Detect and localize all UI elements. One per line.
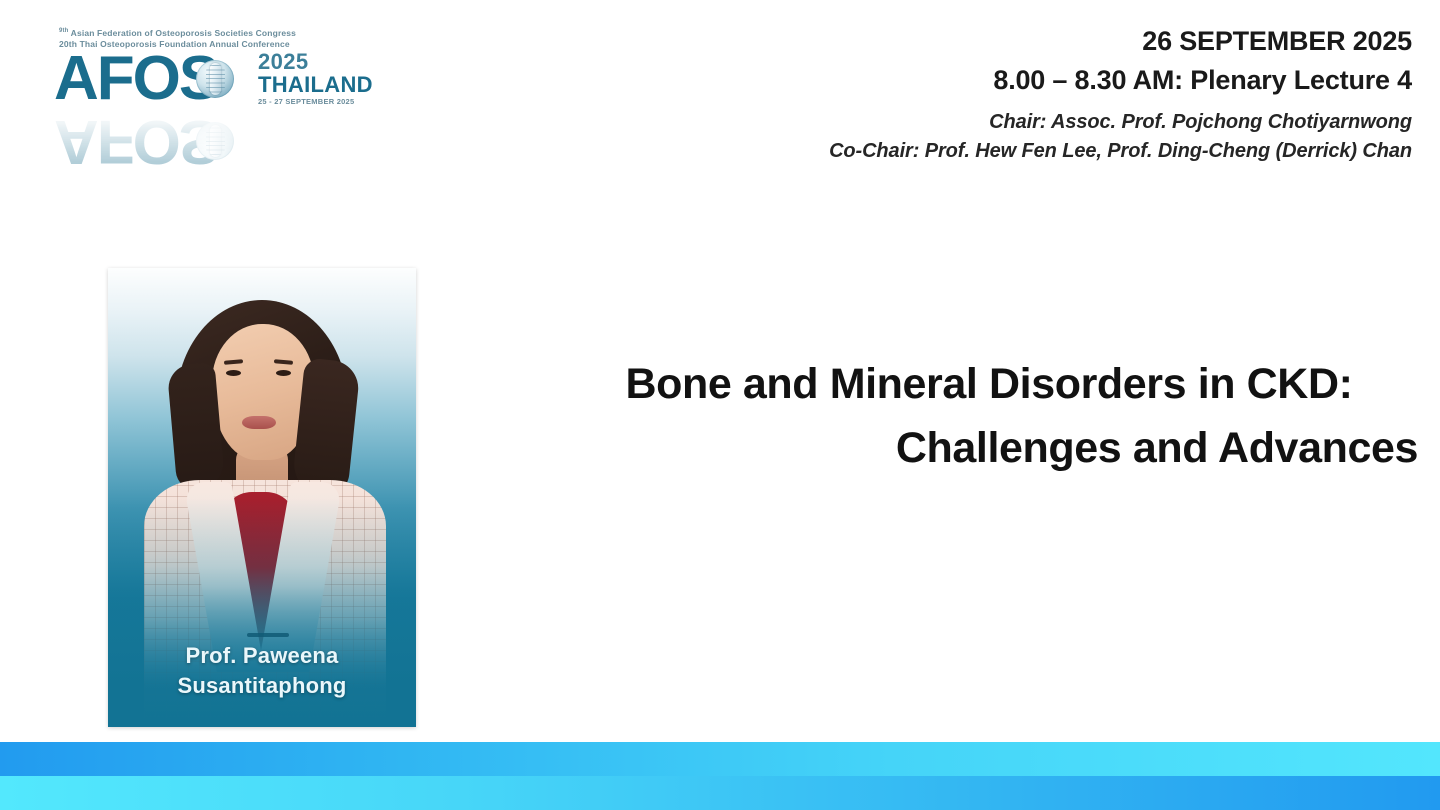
speaker-name-line-1: Prof. Paweena: [108, 641, 416, 671]
footer-bar-upper: [0, 742, 1440, 776]
speaker-card: Prof. Paweena Susantitaphong: [108, 268, 416, 727]
lecture-title-line-1: Bone and Mineral Disorders in CKD:: [625, 360, 1352, 408]
portrait-mouth: [242, 416, 276, 429]
afos-congress-logo: 9th Asian Federation of Osteoporosis Soc…: [52, 26, 392, 166]
footer-bar-lower: [0, 776, 1440, 810]
logo-wordmark-reflection: AFOS: [54, 110, 218, 166]
session-header: 26 SEPTEMBER 2025 8.00 – 8.30 AM: Plenar…: [652, 22, 1412, 166]
vertebra-bone-icon-reflection: [196, 122, 234, 160]
footer-decorative-bars: [0, 742, 1440, 810]
logo-year-block: 2025 THAILAND 25 - 27 SEPTEMBER 2025: [258, 50, 390, 108]
logo-dates: 25 - 27 SEPTEMBER 2025: [258, 96, 390, 108]
logo-year: 2025: [258, 50, 390, 73]
logo-reflection: AFOS: [52, 110, 392, 166]
speaker-name-plate: Prof. Paweena Susantitaphong: [108, 641, 416, 701]
session-co-chair: Co-Chair: Prof. Hew Fen Lee, Prof. Ding-…: [652, 137, 1412, 166]
session-time-and-title: 8.00 – 8.30 AM: Plenary Lecture 4: [652, 60, 1412, 100]
presentation-slide: 9th Asian Federation of Osteoporosis Soc…: [0, 0, 1440, 810]
logo-wordmark: AFOS: [54, 48, 218, 110]
session-date: 26 SEPTEMBER 2025: [652, 22, 1412, 60]
speaker-name-underline: [247, 633, 289, 637]
portrait-eye-left: [226, 370, 241, 376]
logo-tagline-text-1: Asian Federation of Osteoporosis Societi…: [68, 28, 296, 38]
vertebra-bone-icon: [196, 60, 234, 98]
logo-wordmark-row: AFOS 2025 THAILAND 25 - 27 SEPTEMBER 202…: [52, 48, 392, 110]
logo-country: THAILAND: [258, 73, 390, 96]
logo-tagline-line-1: 9th Asian Federation of Osteoporosis Soc…: [59, 26, 389, 39]
portrait-eye-right: [276, 370, 291, 376]
speaker-name-line-2: Susantitaphong: [108, 671, 416, 701]
lecture-title-line-2: Challenges and Advances: [560, 416, 1418, 480]
lecture-title: Bone and Mineral Disorders in CKD: Chall…: [560, 352, 1418, 480]
session-chair: Chair: Assoc. Prof. Pojchong Chotiyarnwo…: [652, 108, 1412, 137]
